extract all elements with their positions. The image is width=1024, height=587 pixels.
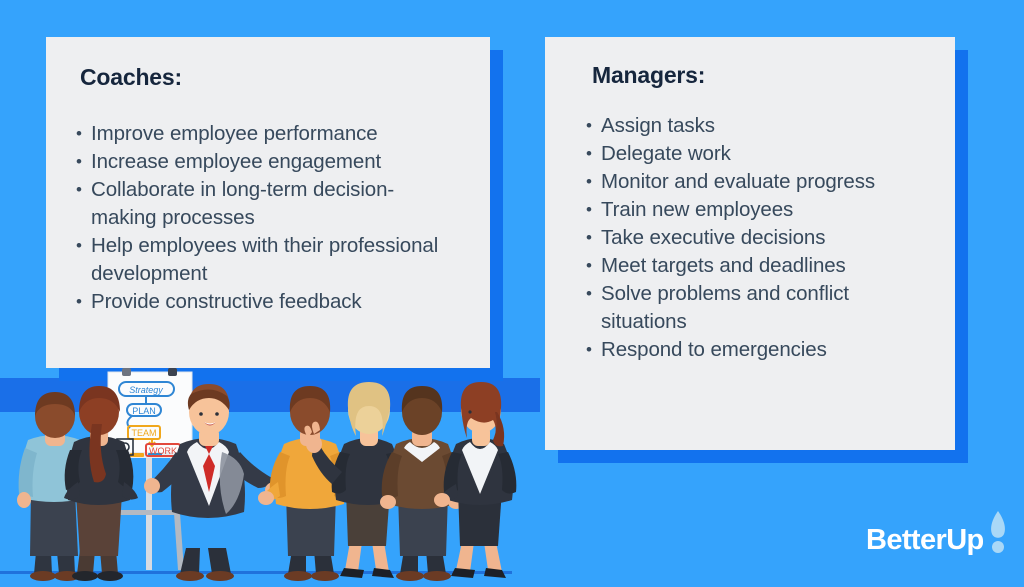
business-team-meeting-illustration: Strategy PLAN TEAM WORK	[0, 360, 520, 587]
managers-bullet-list: Assign tasks Delegate work Monitor and e…	[586, 112, 936, 364]
person-7-woman-suit	[434, 382, 516, 578]
list-item: Assign tasks	[586, 112, 936, 140]
list-item: Monitor and evaluate progress	[586, 168, 936, 196]
managers-card-title: Managers:	[592, 62, 705, 89]
svg-text:PLAN: PLAN	[132, 406, 156, 416]
list-item: Increase employee engagement	[76, 148, 456, 176]
list-item: Solve problems and conflict situations	[586, 280, 936, 336]
list-item: Help employees with their professional d…	[76, 232, 456, 288]
list-item: Collaborate in long-term decision-making…	[76, 176, 456, 232]
coaches-bullet-list: Improve employee performance Increase em…	[76, 120, 456, 316]
list-item: Provide constructive feedback	[76, 288, 456, 316]
slide-canvas: Coaches: Improve employee performance In…	[0, 0, 1024, 587]
list-item: Meet targets and deadlines	[586, 252, 936, 280]
list-item: Train new employees	[586, 196, 936, 224]
svg-text:TEAM: TEAM	[131, 428, 156, 438]
list-item: Respond to emergencies	[586, 336, 936, 364]
list-item: Improve employee performance	[76, 120, 456, 148]
betterup-logo-text: BetterUp	[866, 524, 984, 557]
svg-text:WORK: WORK	[149, 446, 177, 456]
list-item: Take executive decisions	[586, 224, 936, 252]
svg-text:Strategy: Strategy	[129, 385, 163, 395]
betterup-logo[interactable]: BetterUp	[866, 518, 1006, 566]
coaches-card-title: Coaches:	[80, 64, 182, 91]
flame-icon	[987, 510, 1009, 554]
list-item: Delegate work	[586, 140, 936, 168]
